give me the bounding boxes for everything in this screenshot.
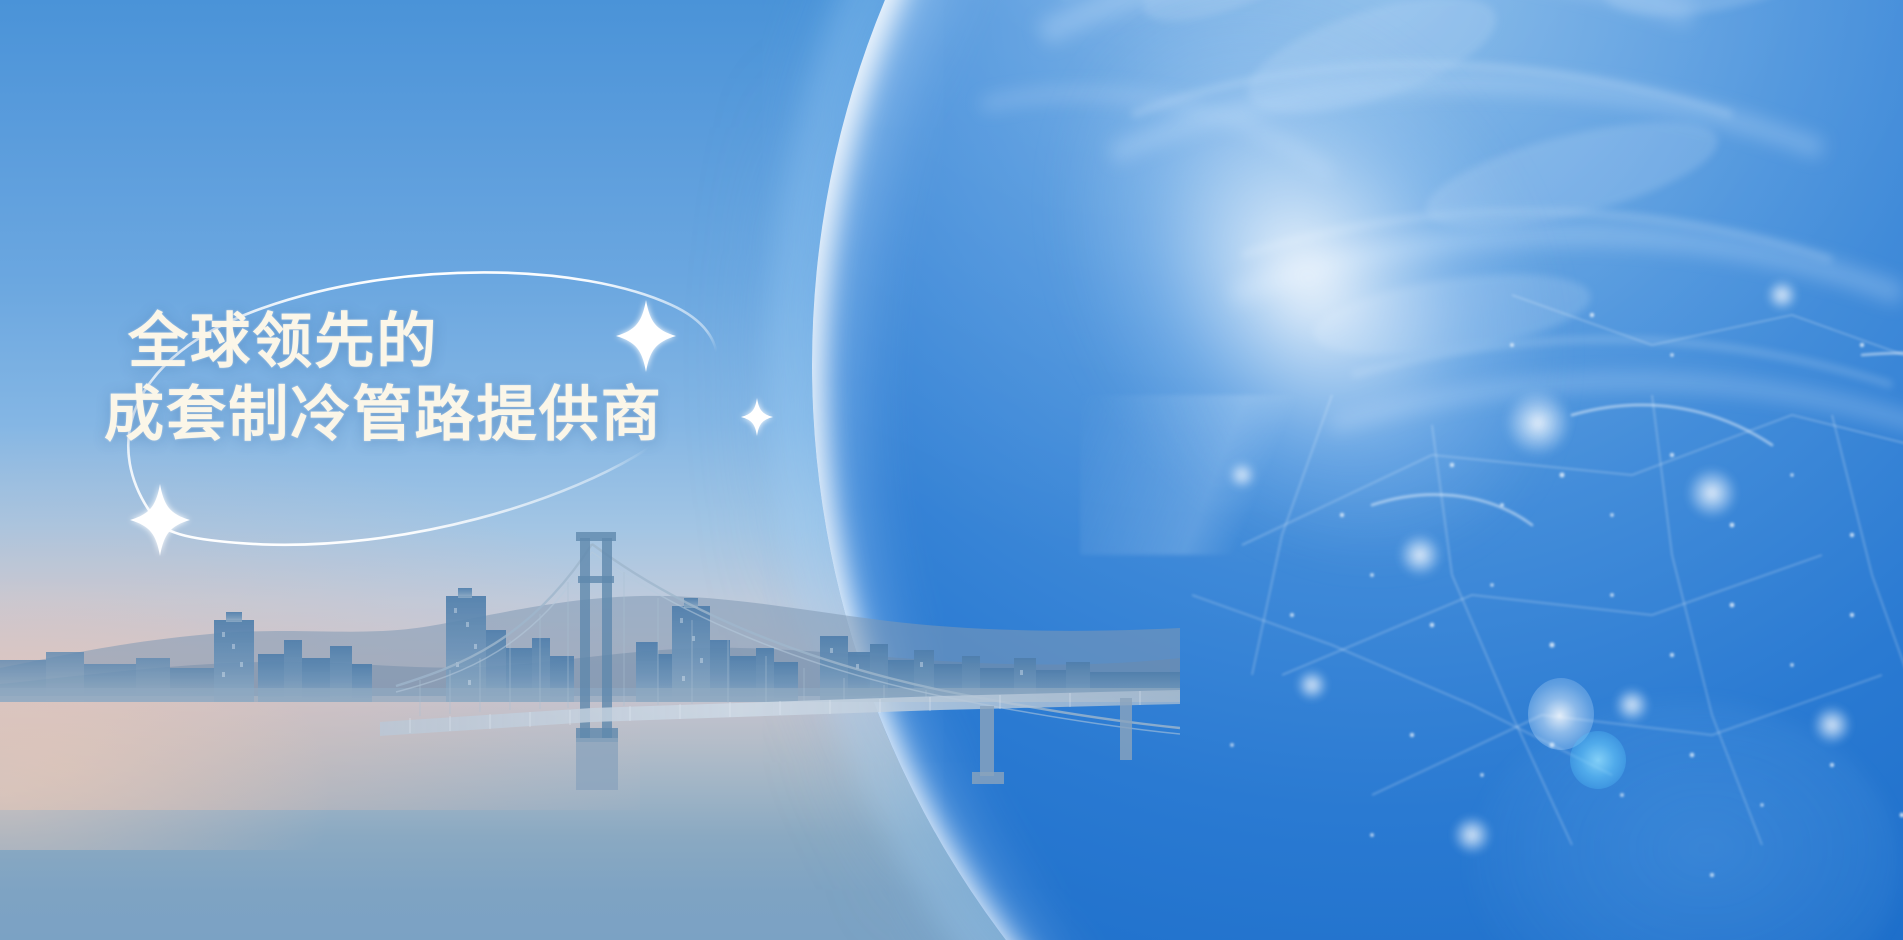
headline-line-1: 全球领先的 (128, 308, 804, 375)
hero-headline: 全球领先的 成套制冷管路提供商 (104, 308, 804, 448)
harbor-scene (0, 510, 1180, 940)
suspension-bridge (380, 510, 1180, 790)
headline-line-2: 成套制冷管路提供商 (104, 381, 804, 448)
hero-banner: 全球领先的 成套制冷管路提供商 (0, 0, 1903, 940)
